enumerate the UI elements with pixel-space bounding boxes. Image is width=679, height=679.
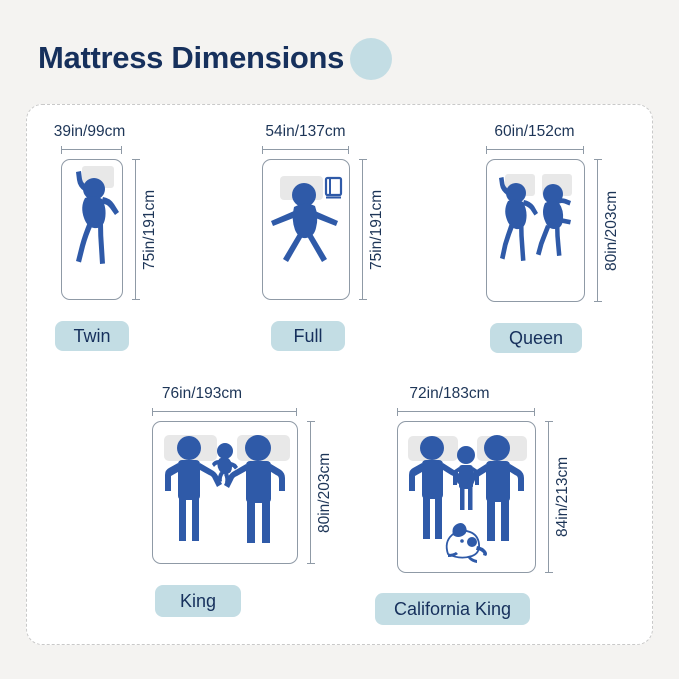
mattress-card-california-king: 72in/183cm	[357, 385, 597, 630]
full-width-dimension-line	[262, 149, 349, 150]
mattress-label-king[interactable]: King	[155, 585, 241, 617]
page-title-text: Mattress Dimensions	[38, 40, 344, 76]
content-panel: 39in/99cm 75in/191cm T	[26, 104, 653, 645]
title-accent-circle	[350, 38, 392, 80]
mattress-label-twin[interactable]: Twin	[55, 321, 129, 351]
full-bed	[262, 159, 350, 300]
queen-bed	[486, 159, 585, 302]
twin-width-label: 39in/99cm	[37, 123, 142, 141]
infographic-page: Mattress Dimensions 39in/99cm	[0, 0, 679, 679]
mattress-card-king: 76in/193cm	[107, 385, 337, 630]
page-title: Mattress Dimensions	[38, 36, 344, 80]
twin-width-dimension-line	[61, 149, 122, 150]
twin-length-dimension-line	[135, 159, 136, 300]
full-width-label: 54in/137cm	[243, 123, 368, 141]
california-king-width-label: 72in/183cm	[357, 385, 542, 403]
book-icon	[326, 178, 341, 198]
full-length-label: 75in/191cm	[368, 159, 386, 300]
california-king-bed	[397, 421, 536, 573]
mattress-label-queen-text: Queen	[509, 328, 563, 349]
california-king-length-label: 84in/213cm	[554, 421, 572, 573]
queen-length-label: 80in/203cm	[603, 159, 621, 302]
queen-length-dimension-line	[597, 159, 598, 302]
mattress-label-california-king-text: California King	[394, 599, 511, 620]
full-length-dimension-line	[362, 159, 363, 300]
king-width-dimension-line	[152, 411, 297, 412]
california-king-bed-illustration	[398, 422, 536, 573]
california-king-length-dimension-line	[548, 421, 549, 573]
king-length-dimension-line	[310, 421, 311, 564]
queen-bed-illustration	[487, 160, 585, 302]
queen-width-dimension-line	[486, 149, 584, 150]
mattress-card-queen: 60in/152cm	[467, 123, 657, 363]
king-width-label: 76in/193cm	[107, 385, 297, 403]
twin-length-label: 75in/191cm	[141, 159, 159, 300]
twin-bed	[61, 159, 123, 300]
dog-icon	[447, 523, 487, 563]
king-bed	[152, 421, 298, 564]
king-bed-illustration	[153, 422, 298, 564]
mattress-label-king-text: King	[180, 591, 216, 612]
mattress-label-full[interactable]: Full	[271, 321, 345, 351]
king-length-label: 80in/203cm	[316, 421, 334, 564]
california-king-width-dimension-line	[397, 411, 535, 412]
mattress-label-california-king[interactable]: California King	[375, 593, 530, 625]
mattress-label-queen[interactable]: Queen	[490, 323, 582, 353]
mattress-card-full: 54in/137cm	[243, 123, 428, 363]
full-bed-illustration	[263, 160, 350, 300]
queen-width-label: 60in/152cm	[467, 123, 602, 141]
twin-bed-illustration	[62, 160, 123, 300]
mattress-label-full-text: Full	[293, 326, 322, 347]
mattress-label-twin-text: Twin	[73, 326, 110, 347]
mattress-card-twin: 39in/99cm 75in/191cm T	[37, 123, 212, 363]
